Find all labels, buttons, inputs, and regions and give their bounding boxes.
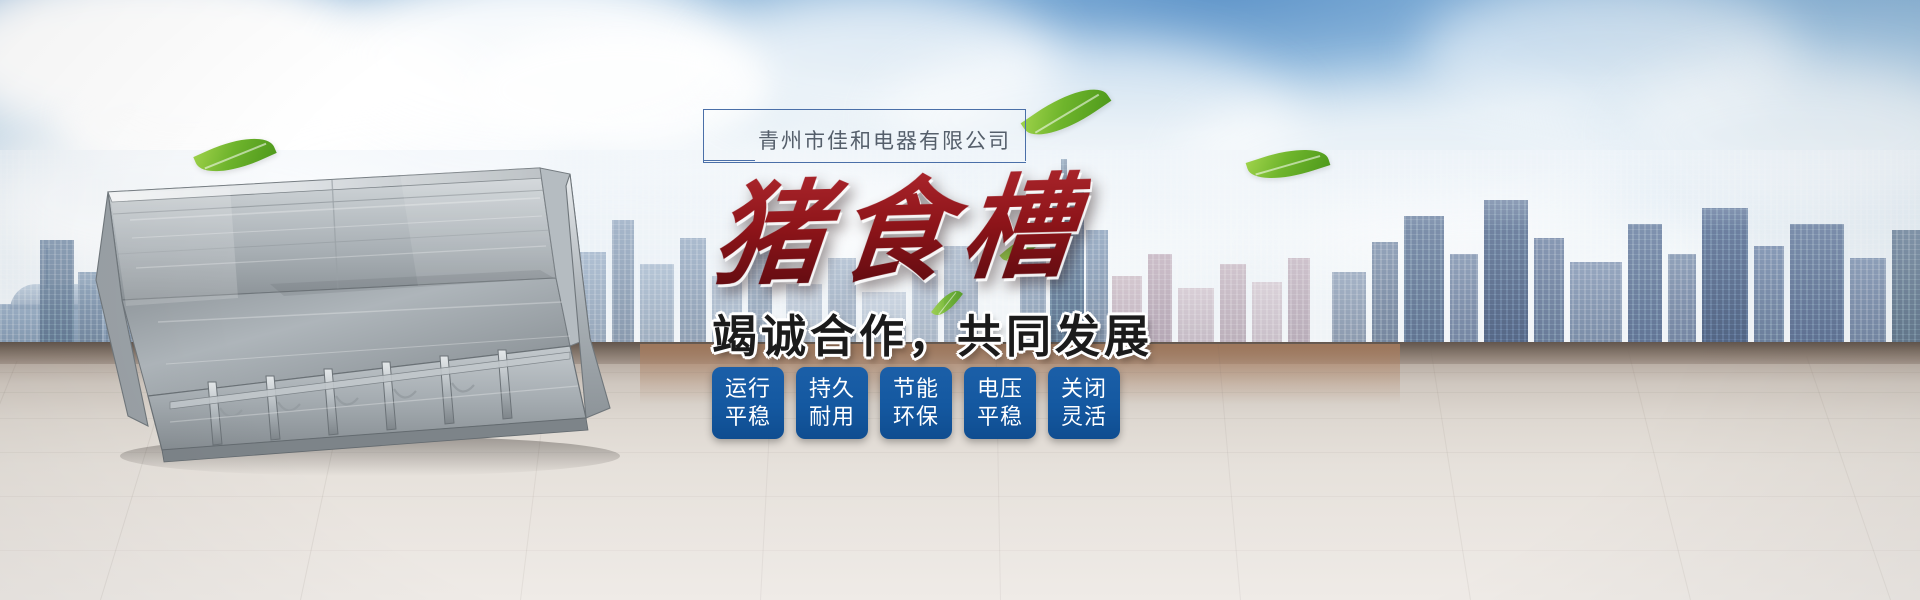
feature-badge[interactable]: 持久 耐用 [796, 367, 868, 439]
feature-badge[interactable]: 关闭 灵活 [1048, 367, 1120, 439]
badge-line-1: 运行 [725, 375, 771, 403]
badge-line-2: 平稳 [977, 403, 1023, 431]
feature-badge[interactable]: 节能 环保 [880, 367, 952, 439]
badge-line-2: 环保 [893, 403, 939, 431]
product-banner: 青州市佳和电器有限公司 猪食槽 竭诚合作，共同发展 运行 平稳 持久 耐用 节能… [0, 0, 1920, 600]
badge-line-1: 电压 [977, 375, 1023, 403]
feature-badge-list: 运行 平稳 持久 耐用 节能 环保 电压 平稳 关闭 灵活 [712, 367, 1120, 439]
banner-subtitle: 竭诚合作，共同发展 [712, 300, 1153, 365]
feature-badge[interactable]: 电压 平稳 [964, 367, 1036, 439]
banner-text-block: 青州市佳和电器有限公司 猪食槽 竭诚合作，共同发展 运行 平稳 持久 耐用 节能… [690, 95, 1250, 555]
badge-line-1: 持久 [809, 375, 855, 403]
company-name: 青州市佳和电器有限公司 [758, 125, 1011, 155]
badge-line-1: 关闭 [1061, 375, 1107, 403]
feature-badge[interactable]: 运行 平稳 [712, 367, 784, 439]
company-name-underline-dash [703, 160, 755, 161]
page-title: 猪食槽 [708, 168, 1092, 295]
badge-line-2: 平稳 [725, 403, 771, 431]
product-image-pig-feeder-trough [70, 150, 630, 480]
badge-line-2: 耐用 [809, 403, 855, 431]
badge-line-2: 灵活 [1061, 403, 1107, 431]
badge-line-1: 节能 [893, 375, 939, 403]
company-name-frame-right-edge [1025, 109, 1026, 161]
